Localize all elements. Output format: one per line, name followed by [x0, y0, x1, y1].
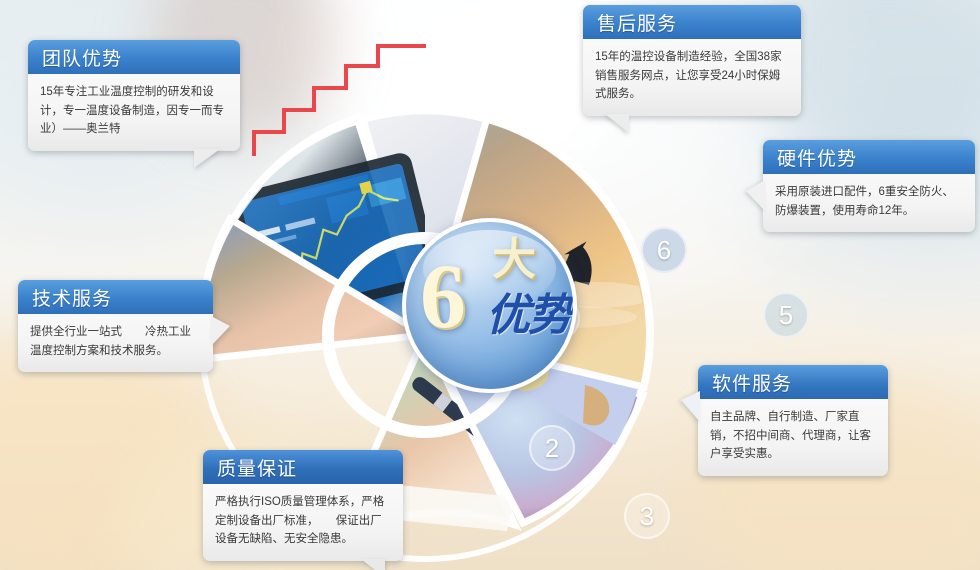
infographic-canvas: 1 2 3 4 5 6 6 大 优势 团队优势 15年专注工业温度控制的研发和设…	[0, 0, 980, 570]
callout-tail	[681, 391, 700, 422]
card-body-team: 15年专注工业温度控制的研发和设计，专一温度设备制造，因专一而专业）——奥兰特	[28, 74, 240, 151]
card-body-after-sales: 15年的温控设备制造经验，全国38家销售服务网点，让您享受24小时保姆式服务。	[583, 39, 801, 116]
card-title-technical: 技术服务	[18, 280, 213, 314]
callout-tail	[746, 180, 765, 211]
card-title-team: 团队优势	[28, 40, 240, 74]
card-title-after-sales: 售后服务	[583, 5, 801, 39]
callout-tail	[605, 114, 629, 133]
emblem-number: 6	[420, 250, 466, 342]
callout-card-hardware[interactable]: 硬件优势 采用原装进口配件，6重安全防火、防爆装置，使用寿命12年。	[763, 140, 975, 232]
callout-tail	[194, 149, 220, 168]
callout-card-team[interactable]: 团队优势 15年专注工业温度控制的研发和设计，专一温度设备制造，因专一而专业）—…	[28, 40, 240, 151]
marker-2[interactable]: 2	[529, 425, 575, 471]
marker-3[interactable]: 3	[624, 493, 670, 539]
callout-tail	[211, 316, 230, 346]
callout-tail	[361, 559, 385, 570]
emblem-big-label: 大	[492, 238, 536, 282]
callout-card-quality[interactable]: 质量保证 严格执行ISO质量管理体系，严格定制设备出厂标准， 保证出厂设备无缺陷…	[203, 450, 403, 561]
card-body-hardware: 采用原装进口配件，6重安全防火、防爆装置，使用寿命12年。	[763, 174, 975, 232]
marker-6[interactable]: 6	[641, 227, 687, 273]
callout-card-software[interactable]: 软件服务 自主品牌、自行制造、厂家直销，不招中间商、代理商，让客户享受实惠。	[698, 365, 888, 476]
card-title-software: 软件服务	[698, 365, 888, 399]
center-emblem: 6 大 优势	[402, 218, 577, 393]
card-body-software: 自主品牌、自行制造、厂家直销，不招中间商、代理商，让客户享受实惠。	[698, 399, 888, 476]
emblem-sub-label: 优势	[486, 294, 570, 338]
emblem-text: 6 大 优势	[406, 222, 573, 389]
callout-card-after-sales[interactable]: 售后服务 15年的温控设备制造经验，全国38家销售服务网点，让您享受24小时保姆…	[583, 5, 801, 116]
callout-card-technical[interactable]: 技术服务 提供全行业一站式 冷热工业温度控制方案和技术服务。	[18, 280, 213, 372]
card-title-quality: 质量保证	[203, 450, 403, 484]
card-body-technical: 提供全行业一站式 冷热工业温度控制方案和技术服务。	[18, 314, 213, 372]
card-title-hardware: 硬件优势	[763, 140, 975, 174]
marker-5[interactable]: 5	[763, 292, 809, 338]
card-body-quality: 严格执行ISO质量管理体系，严格定制设备出厂标准， 保证出厂设备无缺陷、无安全隐…	[203, 484, 403, 561]
